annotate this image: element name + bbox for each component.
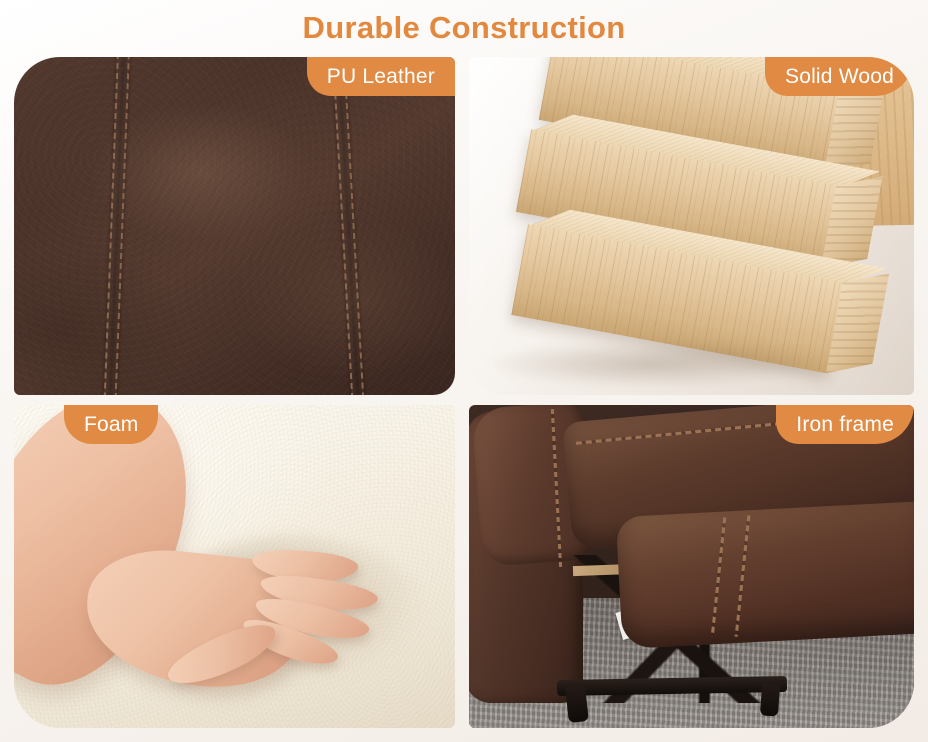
panel-solid-wood[interactable]: Solid Wood <box>469 57 914 395</box>
leather-grain-texture <box>14 57 455 395</box>
solid-wood-photo <box>469 57 914 395</box>
page-title: Durable Construction <box>303 10 626 46</box>
iron-frame-photo <box>469 405 914 728</box>
panel-pu-leather[interactable]: PU Leather <box>14 57 455 395</box>
badge-pu-leather: PU Leather <box>307 57 455 96</box>
iron-frame-foot-right <box>760 683 780 716</box>
panel-foam[interactable]: Foam <box>14 405 455 728</box>
wood-drop-shadow <box>489 341 819 387</box>
foam-photo <box>14 405 455 728</box>
badge-solid-wood: Solid Wood <box>765 57 914 96</box>
pu-leather-photo <box>14 57 455 395</box>
durable-construction-infographic: Durable Construction PU Leather <box>0 0 928 742</box>
panel-iron-frame[interactable]: Iron frame <box>469 405 914 728</box>
material-panel-grid: PU Leather <box>14 57 914 728</box>
badge-foam: Foam <box>64 405 158 444</box>
title-bar: Durable Construction <box>0 0 928 56</box>
badge-iron-frame: Iron frame <box>776 405 914 444</box>
recliner-footrest <box>616 501 914 649</box>
iron-frame-foot-left <box>565 685 589 723</box>
